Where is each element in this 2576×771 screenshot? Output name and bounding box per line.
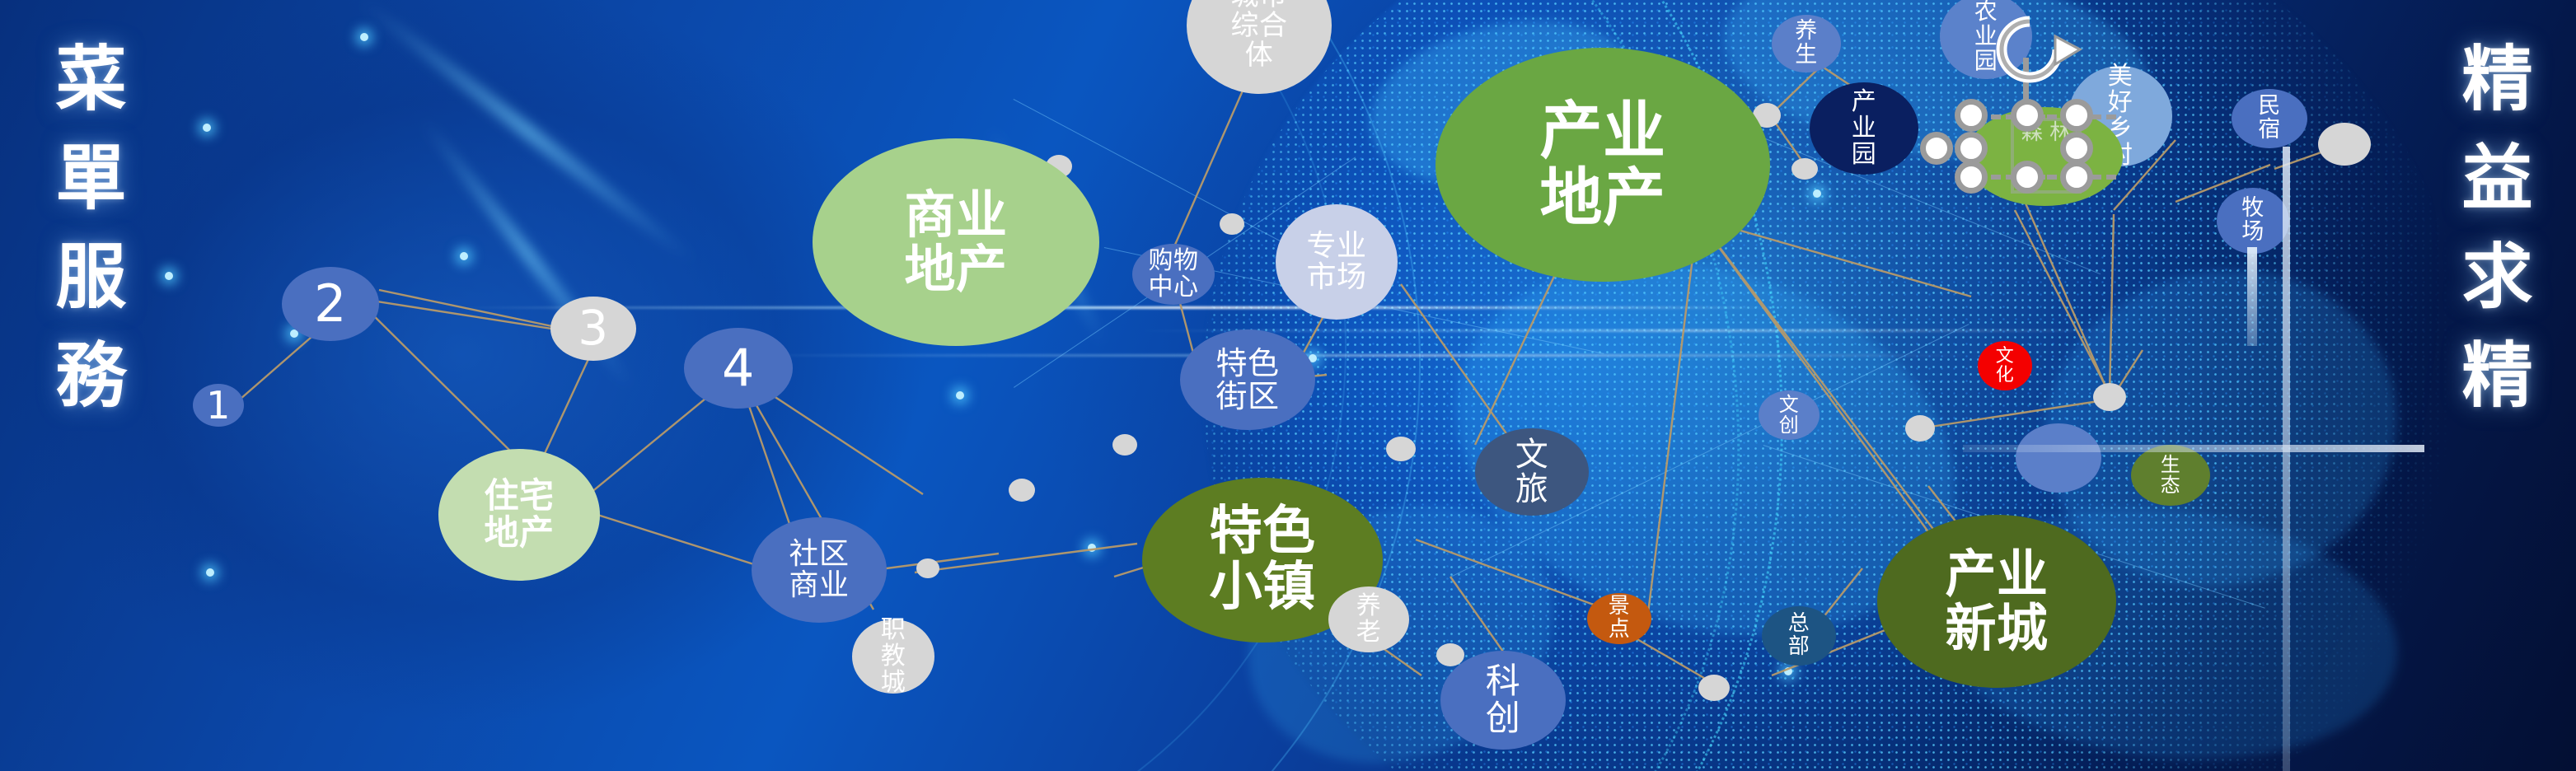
node-number-2-label: 2 xyxy=(314,277,347,331)
light-spark xyxy=(206,568,214,577)
bubble-shengtai-line1: 生 xyxy=(2161,455,2181,475)
bubble-shangye-dichan[interactable]: 商业 地产 xyxy=(813,138,1099,346)
horizon-beam xyxy=(742,354,1978,357)
light-spark xyxy=(460,252,468,260)
bubble-gouwu-zhongxin-line1: 购物 xyxy=(1149,248,1199,274)
bubble-yanglao-line1: 养 xyxy=(1356,593,1382,619)
bubble-chanye-xincheng-line1: 产业 xyxy=(1945,547,2048,601)
bubble-zhuzhai-dichan-line2: 地产 xyxy=(484,515,554,552)
bubble-wenchuang[interactable]: 文 创 xyxy=(1759,390,1820,440)
bubble-minsu[interactable]: 民 宿 xyxy=(2232,89,2307,148)
bubble-zhijiao-cheng-line1: 职 xyxy=(881,617,906,643)
node-number-4-label: 4 xyxy=(722,341,755,395)
bubble-yanglao[interactable]: 养 老 xyxy=(1328,586,1409,652)
bubble-chanye-yuan-line2: 业 xyxy=(1852,115,1877,142)
node-number-3[interactable]: 3 xyxy=(550,297,636,361)
forest-node[interactable] xyxy=(2060,132,2093,165)
light-spark xyxy=(1784,667,1792,675)
horizon-beam xyxy=(1137,329,2126,332)
bubble-wenlv[interactable]: 文 旅 xyxy=(1475,428,1589,516)
forest-node[interactable] xyxy=(1955,132,1988,165)
bubble-tese-xiaozhen-line1: 特色 xyxy=(1210,504,1316,560)
bubble-chanye-xincheng-line2: 新城 xyxy=(1945,601,2048,656)
node-number-1-label: 1 xyxy=(206,385,231,426)
bubble-yangsheng-line2: 生 xyxy=(1795,44,1818,68)
bubble-zongbu-line1: 总 xyxy=(1788,613,1810,636)
bubble-zhijiao-cheng-line3: 城 xyxy=(881,670,906,696)
forest-node[interactable] xyxy=(2060,161,2093,194)
crosshair-vertical xyxy=(2283,147,2290,771)
bubble-jingdian-line1: 景 xyxy=(1609,596,1631,619)
node-number-2[interactable]: 2 xyxy=(282,267,379,341)
bubble-chanye-yuan[interactable]: 产 业 园 xyxy=(1810,82,1918,175)
bubble-kechuang[interactable]: 科 创 xyxy=(1440,651,1566,750)
bubble-shequ-shangye[interactable]: 社区 商业 xyxy=(752,517,887,623)
crosshair-horizontal xyxy=(1963,445,2424,452)
light-spark xyxy=(1088,544,1096,552)
bubble-zhuanye-shichang[interactable]: 专业 市场 xyxy=(1276,204,1398,320)
bubble-chanye-yuan-line3: 园 xyxy=(1852,142,1877,168)
bubble-shequ-shangye-line1: 社区 xyxy=(789,539,849,570)
bubble-yangsheng-line1: 养 xyxy=(1795,20,1818,44)
bubble-shangye-dichan-line1: 商业 xyxy=(904,188,1007,242)
left-calligraphy: 菜單服務 xyxy=(33,41,136,437)
bubble-shengtai-line2: 态 xyxy=(2161,475,2181,496)
node-number-1[interactable]: 1 xyxy=(193,384,244,427)
light-spark xyxy=(1813,189,1821,198)
bubble-chanye-yuan-line1: 产 xyxy=(1852,89,1877,115)
bubble-yanglao-line2: 老 xyxy=(1356,619,1382,646)
bubble-gouwu-zhongxin[interactable]: 购物 中心 xyxy=(1132,244,1215,305)
bubble-zhuzhai-dichan[interactable]: 住宅 地产 xyxy=(438,449,600,581)
forest-node[interactable] xyxy=(1955,99,1988,132)
bubble-wenhua[interactable]: 文 化 xyxy=(1978,341,2032,390)
bubble-zhijiao-cheng[interactable]: 职 教 城 xyxy=(852,619,934,694)
light-spark xyxy=(165,272,173,280)
forest-node[interactable] xyxy=(2060,99,2093,132)
bubble-tese-jiequ-line2: 街区 xyxy=(1215,380,1279,413)
bubble-wenhua-line2: 化 xyxy=(1996,366,2015,385)
bubble-muchang-line2: 场 xyxy=(2241,221,2265,245)
bubble-chanye-xincheng[interactable]: 产业 新城 xyxy=(1877,515,2116,688)
bubble-kechuang-line1: 科 xyxy=(1486,663,1521,700)
forest-node[interactable] xyxy=(2011,99,2044,132)
forest-node[interactable] xyxy=(2011,161,2044,194)
horizon-beam xyxy=(461,306,1780,309)
node-number-4[interactable]: 4 xyxy=(684,328,793,409)
bubble-shequ-shangye-line2: 商业 xyxy=(789,570,849,601)
muchang-pin xyxy=(2247,247,2257,346)
bubble-muchang-line1: 牧 xyxy=(2241,197,2265,221)
forest-node[interactable] xyxy=(1955,161,1988,194)
bubble-tese-jiequ[interactable]: 特色 街区 xyxy=(1180,329,1315,430)
bubble-jingdian[interactable]: 景 点 xyxy=(1587,593,1651,644)
light-spark xyxy=(360,33,368,41)
bubble-zhuanye-shichang-line1: 专业 xyxy=(1306,231,1366,262)
bubble-kechuang-line2: 创 xyxy=(1486,700,1521,737)
infographic-canvas: 菜單服務 精益求精 1 2 3 4 住宅 地产 商业 地产 产业 地产 特色 小… xyxy=(0,0,2576,771)
bubble-minsu-line1: 民 xyxy=(2258,95,2281,119)
bubble-wenlv-line1: 文 xyxy=(1515,437,1549,472)
bubble-jingdian-line2: 点 xyxy=(1609,619,1631,642)
bubble-zhuanye-shichang-line2: 市场 xyxy=(1306,262,1366,293)
bubble-shengtai[interactable]: 生 态 xyxy=(2131,445,2210,506)
bubble-chengshi-zongheti-line2: 综合 xyxy=(1231,11,1288,40)
bubble-tese-xiaozhen-line2: 小镇 xyxy=(1210,560,1316,616)
bubble-minsu-line2: 宿 xyxy=(2258,119,2281,143)
bubble-muchang[interactable]: 牧 场 xyxy=(2217,188,2289,254)
bubble-zhuzhai-dichan-line1: 住宅 xyxy=(484,478,554,515)
bubble-wenchuang-line2: 创 xyxy=(1779,415,1800,436)
bubble-gouwu-zhongxin-line2: 中心 xyxy=(1149,274,1199,301)
bubble-meihao-xiangcun-line2: 好 xyxy=(2108,90,2133,116)
bubble-yangsheng[interactable]: 养 生 xyxy=(1772,15,1841,72)
bubble-zongbu[interactable]: 总 部 xyxy=(1762,606,1836,666)
bubble-chanye-dichan[interactable]: 产业 地产 xyxy=(1436,48,1770,282)
bubble-zongbu-line2: 部 xyxy=(1788,636,1810,659)
bubble-chanye-dichan-line1: 产业 xyxy=(1540,98,1666,165)
light-spark xyxy=(203,124,211,132)
bubble-zhijiao-cheng-line2: 教 xyxy=(881,643,906,670)
bubble-shangye-dichan-line2: 地产 xyxy=(904,242,1007,297)
light-spark xyxy=(956,391,964,400)
node-number-3-label: 3 xyxy=(578,303,608,353)
bubble-meihao-xiangcun-line1: 美 xyxy=(2108,63,2133,90)
bubble-wenlv-line2: 旅 xyxy=(1515,472,1549,507)
bubble-wenhua-line1: 文 xyxy=(1996,347,2015,366)
bubble-chanye-dichan-line2: 地产 xyxy=(1540,165,1666,231)
right-calligraphy: 精益求精 xyxy=(2439,41,2542,437)
forest-node[interactable] xyxy=(1920,132,1953,165)
refresh-icon[interactable] xyxy=(1976,7,2083,97)
bubble-chengshi-zongheti-line3: 体 xyxy=(1231,40,1288,70)
bubble-wenchuang-line1: 文 xyxy=(1779,395,1800,415)
bubble-tese-jiequ-line1: 特色 xyxy=(1215,347,1279,380)
